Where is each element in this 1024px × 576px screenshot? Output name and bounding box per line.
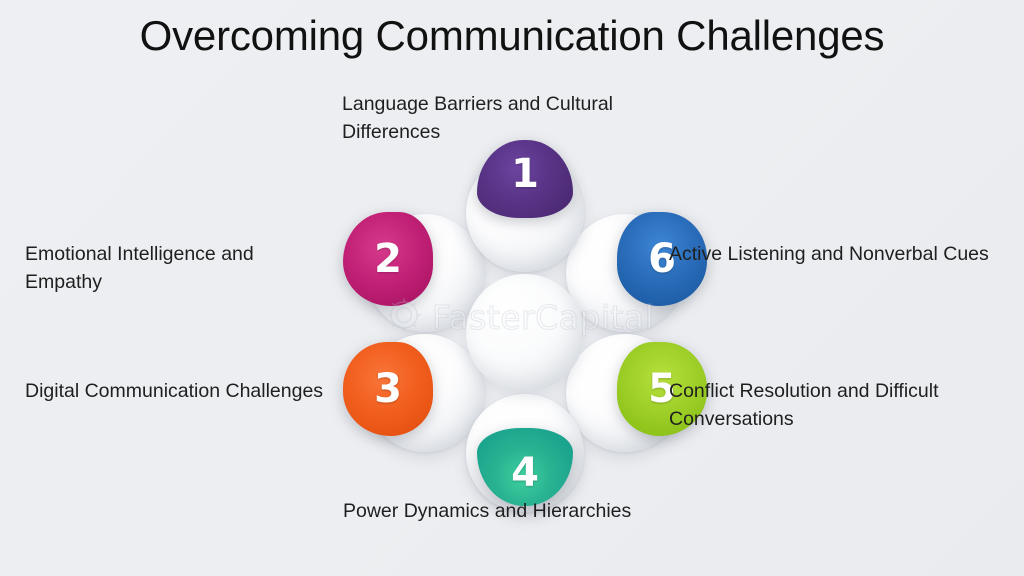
page-title: Overcoming Communication Challenges (0, 12, 1024, 60)
node-marker-4[interactable]: 4 (477, 428, 573, 506)
node-label-1: Language Barriers and Cultural Differenc… (342, 90, 672, 146)
node-marker-3[interactable]: 3 (343, 342, 433, 436)
center-hub-sphere (466, 274, 584, 392)
node-label-6: Active Listening and Nonverbal Cues (669, 240, 1014, 268)
node-number-3: 3 (374, 369, 402, 409)
node-number-1: 1 (511, 154, 539, 194)
node-marker-2[interactable]: 2 (343, 212, 433, 306)
node-label-2: Emotional Intelligence and Empathy (25, 240, 325, 296)
node-number-4: 4 (511, 453, 539, 493)
node-marker-1[interactable]: 1 (477, 140, 573, 218)
node-label-5: Conflict Resolution and Difficult Conver… (669, 377, 1014, 433)
node-number-2: 2 (374, 239, 402, 279)
node-label-3: Digital Communication Challenges (25, 377, 325, 405)
node-label-4: Power Dynamics and Hierarchies (343, 497, 743, 525)
hexagon-cycle-diagram: 2 3 6 5 1 4 (355, 152, 695, 492)
